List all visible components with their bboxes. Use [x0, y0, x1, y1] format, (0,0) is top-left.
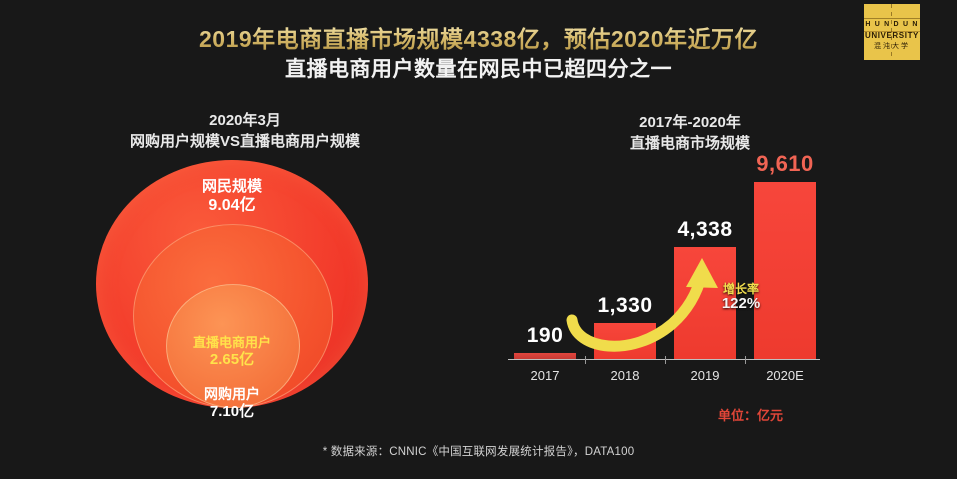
circle-label-live-commerce: 直播电商用户 2.65亿	[96, 335, 368, 369]
chart-x-axis	[508, 359, 820, 360]
circle-online-shoppers-value: 7.10亿	[96, 403, 368, 421]
left-heading-line-1: 2020年3月	[95, 110, 395, 131]
growth-rate-value: 122%	[704, 296, 778, 313]
circle-label-online-shoppers: 网购用户 7.10亿	[96, 386, 368, 421]
growth-rate-annotation: 增长率 122%	[704, 283, 778, 313]
market-size-bar-chart: 190 1,330 4,338 9,610 增长率 122% 2017 2018…	[508, 168, 820, 360]
circle-live-commerce-value: 2.65亿	[96, 351, 368, 369]
circle-netizens-name: 网民规模	[96, 178, 368, 196]
page-title: 2019年电商直播市场规模4338亿，预估2020年近万亿 直播电商用户数量在网…	[0, 24, 957, 84]
x-label-2019: 2019	[665, 368, 745, 383]
source-footnote: * 数据来源：CNNIC《中国互联网发展统计报告》，DATA100	[0, 443, 957, 459]
bar-2020e	[754, 182, 816, 359]
bar-value-2020e: 9,610	[738, 151, 832, 177]
x-label-2018: 2018	[585, 368, 665, 383]
axis-tick-1	[585, 356, 586, 364]
circle-label-netizens: 网民规模 9.04亿	[96, 178, 368, 216]
axis-tick-3	[745, 356, 746, 364]
circle-live-commerce-name: 直播电商用户	[96, 335, 368, 351]
right-section-heading: 2017年-2020年 直播电商市场规模	[560, 112, 820, 154]
nested-circles-diagram: 网民规模 9.04亿 网购用户 7.10亿 直播电商用户 2.65亿	[96, 160, 368, 408]
title-line-2: 直播电商用户数量在网民中已超四分之一	[0, 56, 957, 84]
title-line-1: 2019年电商直播市场规模4338亿，预估2020年近万亿	[0, 24, 957, 54]
slide-canvas: H U N D U N UNIVERSITY 混沌大学 2019年电商直播市场规…	[0, 0, 957, 479]
left-heading-line-2: 网购用户规模VS直播电商用户规模	[95, 131, 395, 152]
circle-netizens-value: 9.04亿	[96, 196, 368, 216]
left-section-heading: 2020年3月 网购用户规模VS直播电商用户规模	[95, 110, 395, 152]
right-heading-line-1: 2017年-2020年	[560, 112, 820, 133]
bar-value-2019: 4,338	[658, 218, 752, 242]
chart-unit-label: 单位：亿元	[718, 405, 783, 424]
axis-tick-2	[665, 356, 666, 364]
circle-online-shoppers-name: 网购用户	[96, 386, 368, 403]
logo-top-rule	[864, 18, 920, 19]
x-label-2017: 2017	[505, 368, 585, 383]
x-label-2020e: 2020E	[745, 368, 825, 383]
